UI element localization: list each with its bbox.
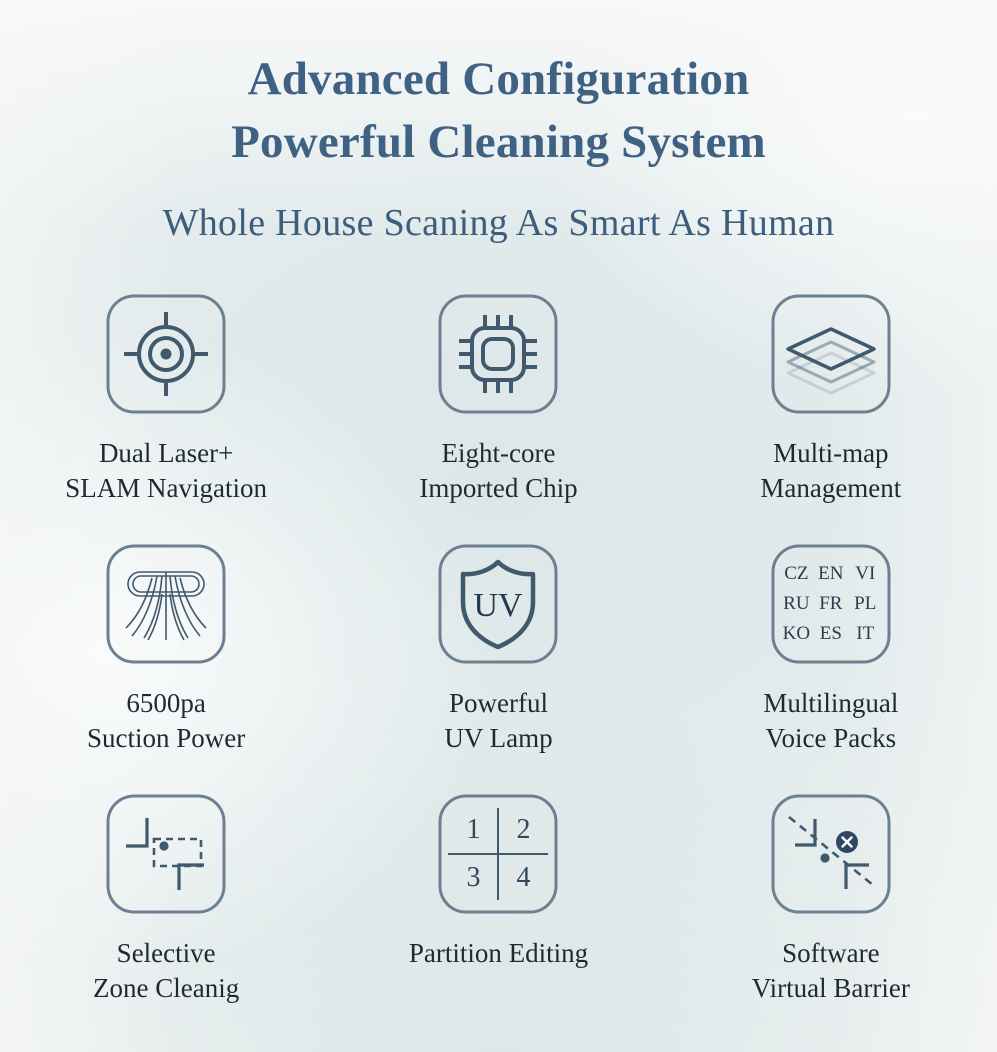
feature-item-uv-lamp: UV Powerful UV Lamp xyxy=(332,544,664,756)
feature-item-suction-power: 6500pa Suction Power xyxy=(0,544,332,756)
lang-code: ES xyxy=(817,622,844,646)
feature-item-multilingual: CZ EN VI RU FR PL KO ES IT Multilingual … xyxy=(665,544,997,756)
lang-code: IT xyxy=(852,622,879,646)
caption-line-2: Imported Chip xyxy=(419,471,577,506)
page-header: Advanced Configuration Powerful Cleaning… xyxy=(0,0,997,250)
icon-tile xyxy=(106,544,226,664)
feature-caption: 6500pa Suction Power xyxy=(87,686,245,756)
virtual-barrier-icon xyxy=(783,806,879,902)
partition-quadrant-icon: 1 2 3 4 xyxy=(452,808,544,900)
lang-code: VI xyxy=(852,562,879,586)
icon-tile xyxy=(771,294,891,414)
quadrant-label-4: 4 xyxy=(516,862,530,894)
caption-line-1: 6500pa xyxy=(126,688,205,718)
caption-line-2: Suction Power xyxy=(87,721,245,756)
feature-caption: Partition Editing xyxy=(409,936,588,971)
feature-caption: Multi-map Management xyxy=(760,436,901,506)
stacked-layers-icon xyxy=(784,311,878,397)
icon-tile xyxy=(106,794,226,914)
lang-code: EN xyxy=(817,562,844,586)
caption-line-1: Multilingual xyxy=(763,688,898,718)
feature-caption: Selective Zone Cleanig xyxy=(93,936,239,1006)
caption-line-1: Eight-core xyxy=(442,438,556,468)
caption-line-1: Dual Laser+ xyxy=(99,438,233,468)
language-codes-icon: CZ EN VI RU FR PL KO ES IT xyxy=(783,562,879,646)
lang-code: FR xyxy=(817,592,844,616)
quadrant-horizontal-divider xyxy=(448,853,548,855)
lang-code: PL xyxy=(852,592,879,616)
selective-zone-icon xyxy=(120,808,212,900)
feature-caption: Eight-core Imported Chip xyxy=(419,436,577,506)
quadrant-label-1: 1 xyxy=(466,814,480,846)
uv-shield-icon: UV xyxy=(455,558,541,650)
icon-tile: 1 2 3 4 xyxy=(438,794,558,914)
icon-tile xyxy=(771,794,891,914)
caption-line-2: SLAM Navigation xyxy=(65,471,267,506)
feature-grid: Dual Laser+ SLAM Navigation Eight-core I… xyxy=(0,294,997,1006)
caption-line-1: Multi-map xyxy=(773,438,889,468)
icon-tile: UV xyxy=(438,544,558,664)
caption-line-2: UV Lamp xyxy=(444,721,552,756)
feature-item-virtual-barrier: Software Virtual Barrier xyxy=(665,794,997,1006)
caption-line-2: Voice Packs xyxy=(763,721,898,756)
page-title-line2: Powerful Cleaning System xyxy=(0,111,997,174)
feature-item-eight-core-chip: Eight-core Imported Chip xyxy=(332,294,664,506)
quadrant-label-3: 3 xyxy=(466,862,480,894)
quadrant-label-2: 2 xyxy=(516,814,530,846)
page-title-line1: Advanced Configuration xyxy=(0,48,997,111)
icon-tile xyxy=(438,294,558,414)
lang-code: CZ xyxy=(783,562,810,586)
feature-caption: Software Virtual Barrier xyxy=(752,936,910,1006)
caption-line-1: Partition Editing xyxy=(409,938,588,968)
lang-code: RU xyxy=(783,592,810,616)
caption-line-1: Selective xyxy=(117,938,216,968)
icon-tile xyxy=(106,294,226,414)
feature-caption: Powerful UV Lamp xyxy=(444,686,552,756)
caption-line-1: Software xyxy=(782,938,879,968)
lang-code: KO xyxy=(783,622,810,646)
icon-tile: CZ EN VI RU FR PL KO ES IT xyxy=(771,544,891,664)
suction-airflow-icon xyxy=(118,566,214,642)
cpu-chip-icon xyxy=(452,308,544,400)
caption-line-1: Powerful xyxy=(449,688,548,718)
caption-line-2: Management xyxy=(760,471,901,506)
feature-item-dual-laser-slam: Dual Laser+ SLAM Navigation xyxy=(0,294,332,506)
uv-shield-label: UV xyxy=(474,587,524,624)
crosshair-target-icon xyxy=(120,308,212,400)
feature-page: Advanced Configuration Powerful Cleaning… xyxy=(0,0,997,1052)
caption-line-2: Zone Cleanig xyxy=(93,971,239,1006)
caption-line-2: Virtual Barrier xyxy=(752,971,910,1006)
feature-item-multi-map: Multi-map Management xyxy=(665,294,997,506)
page-subtitle: Whole House Scaning As Smart As Human xyxy=(0,196,997,250)
feature-item-partition-editing: 1 2 3 4 Partition Editing xyxy=(332,794,664,1006)
feature-caption: Dual Laser+ SLAM Navigation xyxy=(65,436,267,506)
feature-item-selective-zone: Selective Zone Cleanig xyxy=(0,794,332,1006)
feature-caption: Multilingual Voice Packs xyxy=(763,686,898,756)
